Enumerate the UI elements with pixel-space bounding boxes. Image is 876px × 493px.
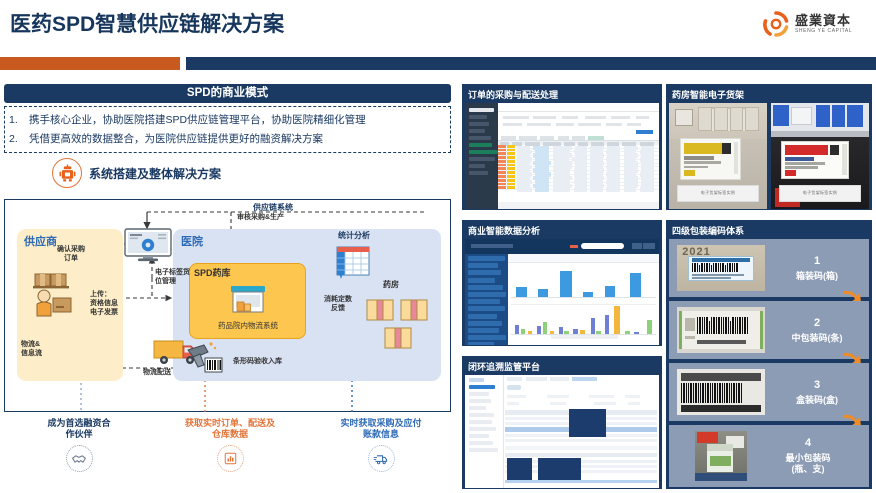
packaging-level-3-label: 盒装码(盒) [765,395,869,406]
logo-text-en: SHENG YE CAPITAL [795,29,852,34]
page-title: 医药SPD智慧供应链解决方案 [10,8,284,38]
diagram-label-supply-chain-system: 供应链系统 [253,202,293,213]
spd-warehouse-title: SPD药库 [194,266,231,279]
report-icon [217,445,244,472]
slide-root: 医药SPD智慧供应链解决方案 盛業資本 SHENG YE CAPITAL SPD… [0,0,876,493]
handshake-icon [66,445,93,472]
list-item-text: 凭借更高效的数据整合，为医院供应链提供更好的融资解决方案 [29,132,446,146]
shelf-photo-right: 电子货架标签实例 [771,103,869,209]
panel-shelf-images: 电子货架标签实例 [669,103,869,209]
bi-content[interactable] [508,254,659,345]
shelf-caption-left: 电子货架标签实例 [677,185,759,202]
packaging-level-4[interactable]: 4 最小包装码 (瓶、支) [669,425,869,487]
system-section-header: 系统搭建及整体解决方案 [4,158,456,188]
packaging-level-3[interactable]: 3 盒装码(盒) [669,363,869,421]
bi-chart-top [511,265,656,301]
panel-trace[interactable]: 闭环追溯监管平台 [462,356,662,489]
list-item: 2. 凭借更高效的数据整合，为医院供应链提供更好的融资解决方案 [9,132,446,146]
pharmacy-boxes-icon [365,292,435,354]
business-model-box: 1. 携手核心企业，协助医院搭建SPD供应链管理平台，协助医院精细化管理 2. … [4,106,451,153]
warehouse-icon [227,282,269,318]
supplier-boxes-icon [31,272,95,318]
diagram-label-statistics: 统计分析 [338,231,370,240]
logo-mark-icon [762,10,790,38]
packaging-level-4-label: 最小包装码 (瓶、支) [747,453,869,475]
left-column: SPD的商业模式 1. 携手核心企业，协助医院搭建SPD供应链管理平台，协助医院… [4,84,456,489]
packaging-level-1-label: 箱装码(箱) [765,271,869,282]
list-item-number: 2. [9,132,29,146]
shelf-photo-left: 电子货架标签实例 [669,103,767,209]
monitor-icon [124,228,172,262]
packaging-level-1[interactable]: 2021 1 箱装码(箱) [669,239,869,297]
footer-benefit-1-text: 成为首选融资合 作伙伴 [4,418,154,440]
diagram-label-consume-feedback: 消耗定数 反馈 [315,295,361,313]
app-tabs[interactable] [498,134,659,141]
accent-bar-orange [0,57,180,70]
packaging-photo-2 [677,307,765,353]
logo-text-cn: 盛業資本 [795,14,852,27]
bi-header-bar[interactable] [465,239,659,254]
bi-nav-tabs[interactable] [508,254,659,263]
app-filter-area[interactable] [498,112,659,134]
footer-benefit-3-text: 实时获取采购及应付 账款信息 [306,418,456,440]
app-toolbar[interactable] [498,103,659,112]
bi-sidebar[interactable] [465,254,508,345]
footer-benefits-row: 成为首选融资合 作伙伴 获取实时订单、配送及 仓库数据 实时获取采购及应付 账款… [4,418,456,488]
app-sidebar[interactable] [465,103,498,209]
packaging-level-3-number: 3 [765,379,869,392]
footer-benefit-1: 成为首选融资合 作伙伴 [4,418,154,472]
packaging-level-4-number: 4 [747,437,869,450]
panel-bi-title: 商业智能数据分析 [465,223,659,239]
trace-sidebar[interactable] [465,375,504,488]
packaging-level-2-number: 2 [765,317,869,330]
hospital-box-title: 医院 [181,233,203,249]
system-section-label: 系统搭建及整体解决方案 [89,165,221,182]
panel-shelf[interactable]: 药房智能电子货架 [666,84,872,210]
diagram-label-logistics-info: 物流& 信息流 [21,340,42,358]
business-model-heading: SPD的商业模式 [4,84,451,103]
panel-packaging-title: 四级包装编码体系 [669,223,869,239]
packaging-level-2-label: 中包装码(条) [765,333,869,344]
data-grid[interactable] [498,141,659,202]
shelf-caption-right: 电子货架标签实例 [779,185,861,202]
bi-chart-bottom [511,304,656,339]
business-model-list: 1. 携手核心企业，协助医院搭建SPD供应链管理平台，协助医院精细化管理 2. … [9,113,446,146]
app-pagination[interactable] [498,202,659,209]
list-item-text: 携手核心企业，协助医院搭建SPD供应链管理平台，协助医院精细化管理 [29,113,446,127]
spd-warehouse-subtitle: 药品院内物流系统 [195,320,301,331]
panel-trace-title: 闭环追溯监管平台 [465,359,659,375]
list-item: 1. 携手核心企业，协助医院搭建SPD供应链管理平台，协助医院精细化管理 [9,113,446,127]
table-row[interactable] [498,186,659,190]
panel-orders[interactable]: 订单的采购与配送处理 [462,84,662,210]
list-item-number: 1. [9,113,29,127]
diagram-label-audit: 审核采购&生产 [237,213,284,222]
supply-chain-diagram: 供应链系统 供应商 医院 SPD药库 药品院内物流系统 [4,199,451,412]
panel-bi[interactable]: 商业智能数据分析 [462,220,662,346]
footer-benefit-2-text: 获取实时订单、配送及 仓库数据 [155,418,305,440]
packaging-photo-4 [695,431,747,481]
packaging-photo-1: 2021 [677,245,765,291]
panel-shelf-title: 药房智能电子货架 [669,87,869,103]
company-logo: 盛業資本 SHENG YE CAPITAL [762,4,868,44]
diagram-label-etag: 电子标签货 位管理 [155,268,190,286]
barcode-scanner-icon [185,340,227,376]
diagram-label-upload: 上传： 资格信息 电子发票 [90,290,118,317]
accent-bar-navy [186,57,876,70]
trace-content[interactable] [504,375,659,488]
packaging-level-1-number: 1 [765,255,869,268]
diagram-label-pharmacy: 药房 [383,280,399,289]
truck-icon [368,445,395,472]
statistics-table-icon [335,245,371,281]
diagram-label-confirm-order: 确认采购 订单 [47,245,95,263]
diagram-label-logistics-delivery: 物流配送 [143,368,171,377]
panel-packaging-body: 2021 1 箱装码(箱) [669,239,869,488]
diagram-label-barcode-receive: 条形码验收入库 [233,357,282,366]
packaging-level-2[interactable]: 2 中包装码(条) [669,301,869,359]
packaging-level-4-text: 4 最小包装码 (瓶、支) [747,437,869,475]
panel-packaging[interactable]: 四级包装编码体系 2021 1 箱 [666,220,872,489]
packaging-level-2-text: 2 中包装码(条) [765,317,869,344]
footer-benefit-2: 获取实时订单、配送及 仓库数据 [155,418,305,472]
footer-benefit-3: 实时获取采购及应付 账款信息 [306,418,456,472]
panel-trace-screenshot[interactable] [465,375,659,488]
packaging-level-1-text: 1 箱装码(箱) [765,255,869,282]
panel-orders-title: 订单的采购与配送处理 [465,87,659,103]
packaging-photo-3 [677,369,765,415]
panel-bi-screenshot[interactable] [465,239,659,345]
panel-orders-screenshot[interactable] [465,103,659,209]
robot-icon [52,158,82,188]
packaging-level-3-text: 3 盒装码(盒) [765,379,869,406]
